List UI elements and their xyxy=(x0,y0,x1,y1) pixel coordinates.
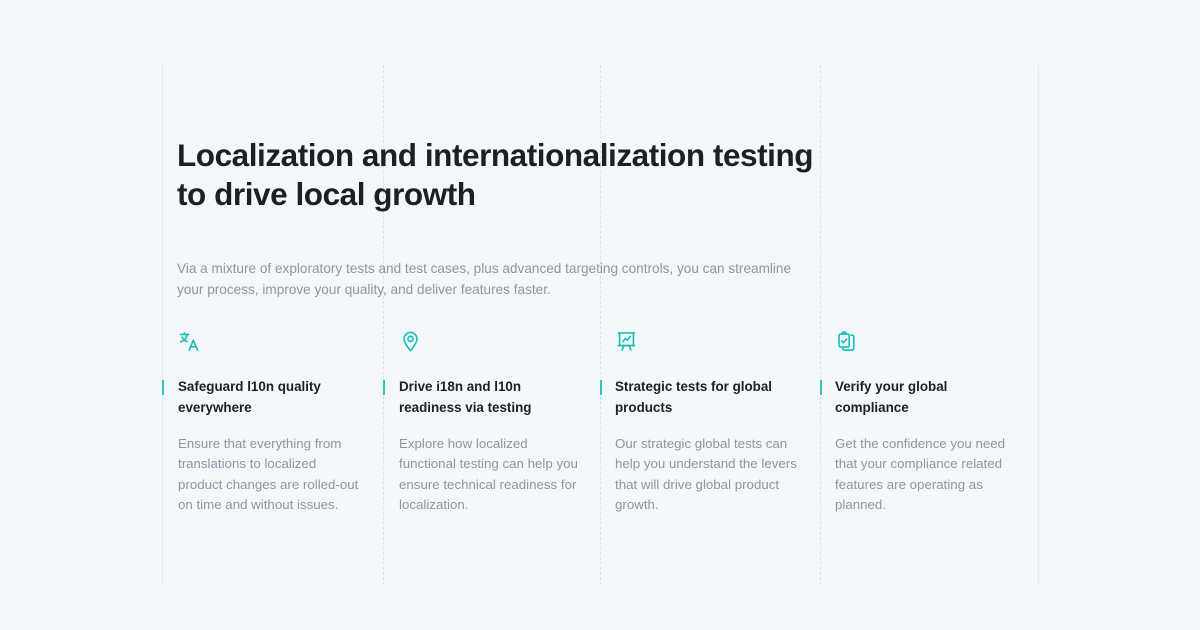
feature-heading: Drive i18n and l10n readiness via testin… xyxy=(399,377,578,418)
page-title: Localization and internationalization te… xyxy=(177,136,837,214)
feature-body: Explore how localized functional testing… xyxy=(399,434,578,516)
clipboard-check-icon xyxy=(835,330,1018,354)
presentation-chart-icon xyxy=(615,330,798,354)
feature-heading: Verify your global compliance xyxy=(835,377,1018,418)
translate-icon xyxy=(178,330,363,354)
page-subtitle: Via a mixture of exploratory tests and t… xyxy=(177,258,807,300)
feature-column-3: Strategic tests for global products Our … xyxy=(600,330,820,516)
feature-body: Ensure that everything from translations… xyxy=(178,434,363,516)
feature-heading: Strategic tests for global products xyxy=(615,377,798,418)
feature-body: Get the confidence you need that your co… xyxy=(835,434,1018,516)
feature-column-1: Safeguard l10n quality everywhere Ensure… xyxy=(162,330,383,516)
hero-section: Localization and internationalization te… xyxy=(177,136,837,214)
feature-body: Our strategic global tests can help you … xyxy=(615,434,798,516)
page-root: Localization and internationalization te… xyxy=(0,0,1200,630)
map-pin-icon xyxy=(399,330,578,354)
feature-column-2: Drive i18n and l10n readiness via testin… xyxy=(383,330,600,516)
feature-columns: Safeguard l10n quality everywhere Ensure… xyxy=(162,330,1038,516)
grid-line-right xyxy=(1038,65,1039,585)
feature-heading: Safeguard l10n quality everywhere xyxy=(178,377,363,418)
feature-column-4: Verify your global compliance Get the co… xyxy=(820,330,1038,516)
